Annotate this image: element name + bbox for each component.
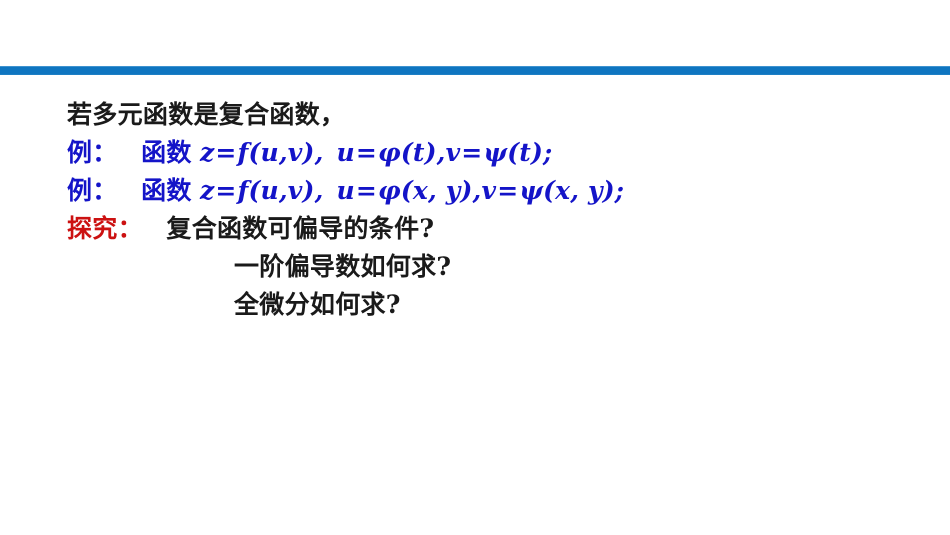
formula-psi-args: (x, y); <box>543 176 624 205</box>
formula-var-u: u <box>336 138 354 167</box>
formula-phi-args: (t), <box>401 138 446 167</box>
top-divider-highlight <box>0 66 950 67</box>
text-line-inquiry-question-3: 全微分如何求? <box>0 286 950 324</box>
formula-equals-1: = <box>214 138 237 167</box>
text-line-premise: 若多元函数是复合函数， <box>0 96 950 134</box>
formula-func-phi: φ <box>378 176 401 205</box>
formula-f-args: (u,v), <box>249 138 324 167</box>
top-divider-shadow <box>0 74 950 75</box>
inquiry-question-1: 复合函数可偏导的条件? <box>166 214 434 243</box>
formula-func-psi: ψ <box>483 138 507 167</box>
example-1-function-word: 函数 <box>141 138 192 167</box>
slide-canvas: 若多元函数是复合函数， 例： 函数 z=f(u,v),u=φ(t),v=ψ(t)… <box>0 0 950 535</box>
formula-equals-3: = <box>460 138 483 167</box>
formula-equals-1: = <box>214 176 237 205</box>
formula-func-psi: ψ <box>519 176 543 205</box>
inquiry-question-2: 一阶偏导数如何求? <box>234 252 451 281</box>
text-line-example-1: 例： 函数 z=f(u,v),u=φ(t),v=ψ(t); <box>0 134 950 172</box>
text-line-example-2: 例： 函数 z=f(u,v),u=φ(x, y),v=ψ(x, y); <box>0 172 950 210</box>
example-2-function-word: 函数 <box>141 176 192 205</box>
example-2-formula: z=f(u,v),u=φ(x, y),v=ψ(x, y); <box>200 176 624 205</box>
slide-body: 若多元函数是复合函数， 例： 函数 z=f(u,v),u=φ(t),v=ψ(t)… <box>0 96 950 324</box>
formula-equals-2: = <box>355 176 378 205</box>
example-2-label: 例： <box>67 176 118 205</box>
formula-var-v: v <box>481 176 496 205</box>
formula-f-args: (u,v), <box>249 176 324 205</box>
formula-var-z: z <box>200 138 214 167</box>
formula-var-z: z <box>200 176 214 205</box>
inquiry-label: 探究： <box>67 214 143 243</box>
text-line-inquiry-heading: 探究： 复合函数可偏导的条件? <box>0 210 950 248</box>
example-1-formula: z=f(u,v),u=φ(t),v=ψ(t); <box>200 138 552 167</box>
formula-var-u: u <box>336 176 354 205</box>
formula-func-phi: φ <box>378 138 401 167</box>
formula-func-f: f <box>238 138 249 167</box>
inquiry-question-3: 全微分如何求? <box>234 290 401 319</box>
formula-equals-3: = <box>496 176 519 205</box>
formula-psi-args: (t); <box>507 138 552 167</box>
example-1-label: 例： <box>67 138 118 167</box>
formula-phi-args: (x, y), <box>401 176 482 205</box>
formula-equals-2: = <box>355 138 378 167</box>
formula-var-v: v <box>446 138 461 167</box>
formula-func-f: f <box>238 176 249 205</box>
premise-text: 若多元函数是复合函数， <box>67 100 345 129</box>
text-line-inquiry-question-2: 一阶偏导数如何求? <box>0 248 950 286</box>
